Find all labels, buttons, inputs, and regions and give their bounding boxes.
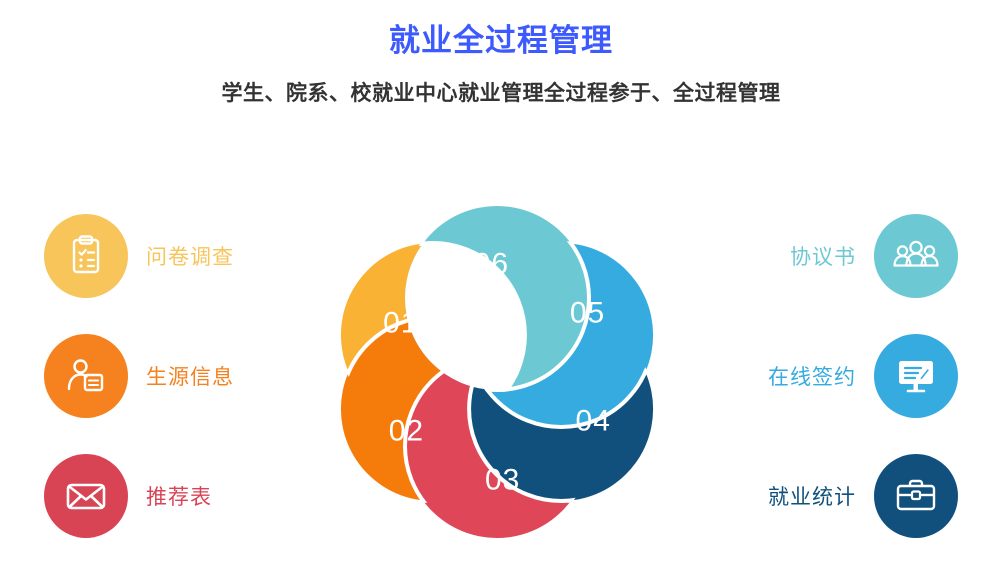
pinwheel-number-01: 01: [383, 306, 418, 339]
pinwheel-diagram: 010203040506: [325, 206, 675, 546]
feature-item-student-source[interactable]: 生源信息: [44, 334, 234, 418]
envelope-icon: [63, 473, 109, 519]
pinwheel-number-04: 04: [576, 405, 611, 438]
pinwheel-number-05: 05: [570, 297, 605, 330]
feature-label-recommendation-form: 推荐表: [146, 481, 212, 511]
briefcase-icon: [893, 473, 939, 519]
online-signing-badge[interactable]: [874, 334, 958, 418]
user-id-card-icon: [63, 353, 109, 399]
feature-item-online-signing[interactable]: 在线签约: [768, 334, 958, 418]
questionnaire-badge[interactable]: [44, 214, 128, 298]
feature-item-recommendation-form[interactable]: 推荐表: [44, 454, 212, 538]
feature-item-employment-statistics[interactable]: 就业统计: [768, 454, 958, 538]
page-title: 就业全过程管理: [0, 0, 1002, 61]
page-subtitle: 学生、院系、校就业中心就业管理全过程参于、全过程管理: [0, 61, 1002, 107]
employment-statistics-badge[interactable]: [874, 454, 958, 538]
pinwheel-svg: 010203040506: [325, 206, 675, 546]
student-source-badge[interactable]: [44, 334, 128, 418]
feature-label-employment-statistics: 就业统计: [768, 481, 856, 511]
clipboard-icon: [63, 233, 109, 279]
pinwheel-number-02: 02: [389, 414, 424, 447]
left-feature-column: 问卷调查 生源信息 推荐表: [44, 214, 234, 538]
right-feature-column: 协议书 在线签约 就业统计: [768, 214, 958, 538]
feature-label-online-signing: 在线签约: [768, 361, 856, 391]
recommendation-form-badge[interactable]: [44, 454, 128, 538]
header: 就业全过程管理 学生、院系、校就业中心就业管理全过程参于、全过程管理: [0, 0, 1002, 107]
feature-label-student-source: 生源信息: [146, 361, 234, 391]
pinwheel-number-06: 06: [474, 248, 509, 281]
monitor-sign-icon: [893, 353, 939, 399]
feature-item-questionnaire[interactable]: 问卷调查: [44, 214, 234, 298]
feature-label-agreement: 协议书: [790, 241, 856, 271]
feature-item-agreement[interactable]: 协议书: [790, 214, 958, 298]
group-people-icon: [892, 233, 940, 279]
agreement-badge[interactable]: [874, 214, 958, 298]
feature-label-questionnaire: 问卷调查: [146, 241, 234, 271]
pinwheel-number-03: 03: [485, 463, 520, 496]
